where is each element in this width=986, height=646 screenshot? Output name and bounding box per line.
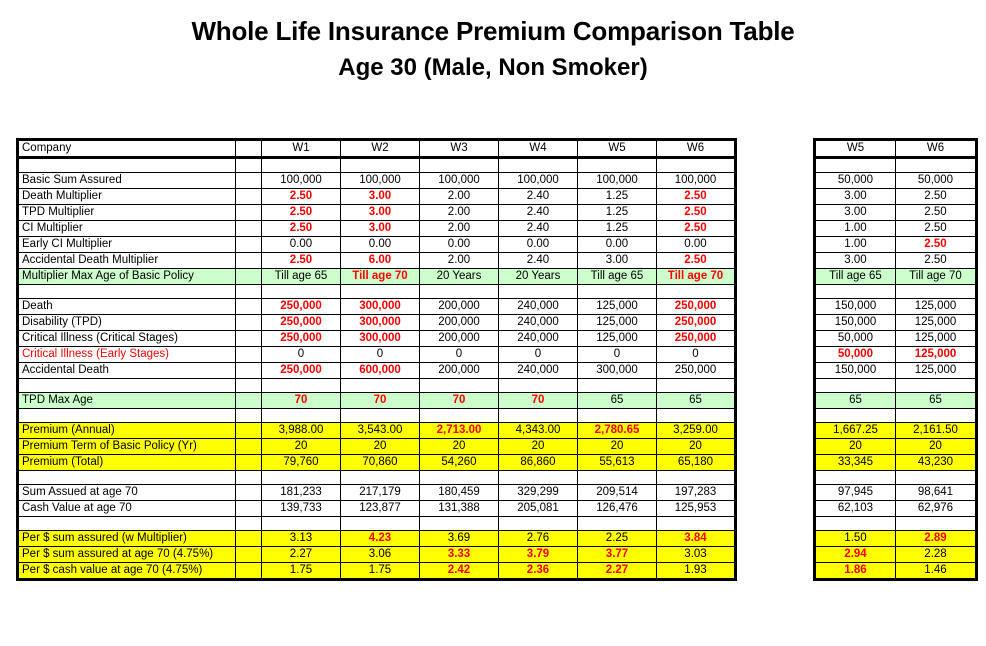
row-label: Critical Illness (Early Stages)	[18, 347, 236, 363]
spacer-cell	[236, 501, 262, 517]
table-row: 50,00050,000	[815, 173, 977, 189]
spacer-cell	[578, 409, 657, 423]
data-cell: 0	[499, 347, 578, 363]
spacer-cell	[896, 409, 977, 423]
data-cell: 0	[262, 347, 341, 363]
row-label: Accidental Death Multiplier	[18, 253, 236, 269]
data-cell: 2.50	[262, 221, 341, 237]
row-label: Death Multiplier	[18, 189, 236, 205]
table-spacer-row	[815, 285, 977, 299]
table-row: 97,94598,641	[815, 485, 977, 501]
data-cell: 200,000	[420, 299, 499, 315]
data-cell: 1.93	[657, 563, 736, 580]
spacer-cell	[420, 517, 499, 531]
table-row: Per $ sum assured (w Multiplier) 3.134.2…	[18, 531, 736, 547]
spacer-cell	[236, 285, 262, 299]
table-row: TPD Max Age 707070706565	[18, 393, 736, 409]
data-cell: 0	[420, 347, 499, 363]
table-spacer-row	[18, 285, 736, 299]
data-cell: 33,345	[815, 455, 896, 471]
data-cell: 125,000	[578, 331, 657, 347]
data-cell: 3.03	[657, 547, 736, 563]
data-cell: 0	[578, 347, 657, 363]
data-cell: 300,000	[578, 363, 657, 379]
table-spacer-row	[815, 158, 977, 173]
data-cell: 0.00	[420, 237, 499, 253]
column-header-w5-small: W5	[815, 140, 896, 158]
table-row: 1.002.50	[815, 237, 977, 253]
spacer-cell	[499, 285, 578, 299]
data-cell: 3.00	[341, 221, 420, 237]
data-cell: 2,713.00	[420, 423, 499, 439]
data-cell: 300,000	[341, 315, 420, 331]
data-cell: 2.50	[896, 189, 977, 205]
data-cell: 65	[815, 393, 896, 409]
data-cell: 200,000	[420, 363, 499, 379]
data-cell: 2.50	[262, 205, 341, 221]
data-cell: 125,000	[896, 299, 977, 315]
data-cell: 2.50	[657, 221, 736, 237]
table-row: Premium (Annual) 3,988.003,543.002,713.0…	[18, 423, 736, 439]
table-row: 33,34543,230	[815, 455, 977, 471]
row-label: Per $ sum assured (w Multiplier)	[18, 531, 236, 547]
spacer-cell	[18, 379, 236, 393]
spacer-cell	[420, 285, 499, 299]
data-cell: 240,000	[499, 331, 578, 347]
data-cell: 1.00	[815, 221, 896, 237]
spacer-cell	[499, 409, 578, 423]
data-cell: 50,000	[815, 173, 896, 189]
data-cell: 250,000	[657, 299, 736, 315]
data-cell: 3.13	[262, 531, 341, 547]
spacer-cell	[499, 379, 578, 393]
spacer-cell	[815, 471, 896, 485]
data-cell: 125,000	[578, 299, 657, 315]
row-label: CI Multiplier	[18, 221, 236, 237]
data-cell: 2.50	[896, 221, 977, 237]
data-cell: 250,000	[262, 315, 341, 331]
spacer-cell	[657, 517, 736, 531]
table-row: Per $ sum assured at age 70 (4.75%) 2.27…	[18, 547, 736, 563]
data-cell: 1.00	[815, 237, 896, 253]
table-row: 1.861.46	[815, 563, 977, 580]
data-cell: 150,000	[815, 315, 896, 331]
spacer-cell	[657, 409, 736, 423]
data-cell: 2.76	[499, 531, 578, 547]
data-cell: 3.00	[815, 205, 896, 221]
data-cell: 2.50	[896, 205, 977, 221]
data-cell: 2.50	[896, 253, 977, 269]
data-cell: 3,988.00	[262, 423, 341, 439]
data-cell: 200,000	[420, 331, 499, 347]
data-cell: 1,667.25	[815, 423, 896, 439]
table-row: Multiplier Max Age of Basic Policy Till …	[18, 269, 736, 285]
data-cell: 209,514	[578, 485, 657, 501]
spacer-cell	[341, 379, 420, 393]
spacer-cell	[262, 158, 341, 173]
table-row: 3.002.50	[815, 189, 977, 205]
data-cell: 600,000	[341, 363, 420, 379]
table-spacer-row	[18, 409, 736, 423]
table-row: Basic Sum Assured 100,000100,000100,0001…	[18, 173, 736, 189]
data-cell: 2.40	[499, 221, 578, 237]
data-cell: 125,000	[896, 315, 977, 331]
spacer-cell	[499, 158, 578, 173]
data-cell: Till age 70	[657, 269, 736, 285]
data-cell: 3.79	[499, 547, 578, 563]
table-row: 150,000125,000	[815, 299, 977, 315]
table-row: 3.002.50	[815, 253, 977, 269]
column-header-w6: W6	[657, 140, 736, 158]
data-cell: 2.27	[578, 563, 657, 580]
page-title: Whole Life Insurance Premium Comparison …	[0, 14, 986, 49]
data-cell: 55,613	[578, 455, 657, 471]
spacer-cell	[236, 409, 262, 423]
row-label: Multiplier Max Age of Basic Policy	[18, 269, 236, 285]
table-spacer-row	[18, 158, 736, 173]
data-cell: 240,000	[499, 299, 578, 315]
column-header-w4: W4	[499, 140, 578, 158]
table-row: Critical Illness (Early Stages) 000000	[18, 347, 736, 363]
data-cell: 2.28	[896, 547, 977, 563]
table-row: 1,667.252,161.50	[815, 423, 977, 439]
spacer-cell	[18, 158, 236, 173]
row-label: TPD Multiplier	[18, 205, 236, 221]
spacer-cell	[341, 158, 420, 173]
data-cell: 180,459	[420, 485, 499, 501]
data-cell: 2.50	[657, 253, 736, 269]
spacer-cell	[578, 285, 657, 299]
data-cell: 43,230	[896, 455, 977, 471]
spacer-cell	[262, 471, 341, 485]
spacer-cell	[657, 158, 736, 173]
table-row: 1.002.50	[815, 221, 977, 237]
table-spacer-row	[18, 517, 736, 531]
table-spacer-row	[815, 409, 977, 423]
data-cell: 65	[896, 393, 977, 409]
data-cell: 70,860	[341, 455, 420, 471]
row-label: Accidental Death	[18, 363, 236, 379]
data-cell: 62,103	[815, 501, 896, 517]
data-cell: 2.00	[420, 253, 499, 269]
data-cell: 20 Years	[499, 269, 578, 285]
column-header-w6-small: W6	[896, 140, 977, 158]
left-comparison-table: Company W1W2W3W4W5W6 Basic Sum Assured 1…	[16, 138, 737, 581]
data-cell: Till age 65	[262, 269, 341, 285]
data-cell: 2.50	[657, 205, 736, 221]
data-cell: 20	[420, 439, 499, 455]
table-row: Premium (Total) 79,76070,86054,26086,860…	[18, 455, 736, 471]
data-cell: 0.00	[499, 237, 578, 253]
spacer-cell	[236, 158, 262, 173]
data-cell: 150,000	[815, 363, 896, 379]
data-cell: 2.40	[499, 205, 578, 221]
spacer-cell	[420, 158, 499, 173]
data-cell: 3.00	[815, 253, 896, 269]
row-label: Per $ sum assured at age 70 (4.75%)	[18, 547, 236, 563]
data-cell: 240,000	[499, 363, 578, 379]
table-row: 50,000125,000	[815, 331, 977, 347]
data-cell: 300,000	[341, 299, 420, 315]
spacer-cell	[236, 299, 262, 315]
data-cell: 1.25	[578, 221, 657, 237]
data-cell: 3.33	[420, 547, 499, 563]
data-cell: 3.06	[341, 547, 420, 563]
spacer-cell	[236, 173, 262, 189]
spacer-cell	[420, 409, 499, 423]
spacer-cell	[236, 331, 262, 347]
spacer-cell	[896, 158, 977, 173]
data-cell: 0.00	[262, 237, 341, 253]
data-cell: 2,780.65	[578, 423, 657, 439]
data-cell: 70	[341, 393, 420, 409]
data-cell: 2.94	[815, 547, 896, 563]
spacer-cell	[896, 379, 977, 393]
data-cell: 2.40	[499, 253, 578, 269]
data-cell: 50,000	[815, 331, 896, 347]
table-row: Death Multiplier 2.503.002.002.401.252.5…	[18, 189, 736, 205]
data-cell: 70	[420, 393, 499, 409]
data-cell: 100,000	[499, 173, 578, 189]
data-cell: Till age 70	[341, 269, 420, 285]
table-row: Till age 65Till age 70	[815, 269, 977, 285]
data-cell: 6.00	[341, 253, 420, 269]
data-cell: 2.00	[420, 221, 499, 237]
data-cell: 2.42	[420, 563, 499, 580]
spacer-cell	[341, 471, 420, 485]
spacer-cell	[236, 423, 262, 439]
data-cell: 0.00	[657, 237, 736, 253]
data-cell: 131,388	[420, 501, 499, 517]
table-spacer-row	[18, 379, 736, 393]
spacer-cell	[236, 363, 262, 379]
spacer-cell	[236, 563, 262, 580]
data-cell: 2.40	[499, 189, 578, 205]
data-cell: 100,000	[341, 173, 420, 189]
data-cell: 20	[815, 439, 896, 455]
data-cell: 50,000	[896, 173, 977, 189]
spacer-cell	[18, 285, 236, 299]
right-comparison-table: W5W6 50,00050,0003.002.503.002.501.002.5…	[813, 138, 978, 581]
data-cell: 2.50	[657, 189, 736, 205]
row-label: Critical Illness (Critical Stages)	[18, 331, 236, 347]
spacer-cell	[236, 253, 262, 269]
data-cell: 100,000	[420, 173, 499, 189]
row-label: TPD Max Age	[18, 393, 236, 409]
row-label: Basic Sum Assured	[18, 173, 236, 189]
data-cell: 65,180	[657, 455, 736, 471]
data-cell: 3,259.00	[657, 423, 736, 439]
spacer-cell	[236, 237, 262, 253]
spacer-cell	[236, 205, 262, 221]
data-cell: 250,000	[657, 315, 736, 331]
data-cell: 20	[578, 439, 657, 455]
table-header-row: W5W6	[815, 140, 977, 158]
spacer-cell	[262, 409, 341, 423]
spacer-cell	[341, 409, 420, 423]
table-spacer-row	[815, 471, 977, 485]
table-row: 2.942.28	[815, 547, 977, 563]
spacer-cell	[499, 517, 578, 531]
data-cell: 250,000	[262, 363, 341, 379]
data-cell: 20 Years	[420, 269, 499, 285]
page-subtitle: Age 30 (Male, Non Smoker)	[0, 49, 986, 87]
table-row: 150,000125,000	[815, 315, 977, 331]
spacer-cell	[341, 517, 420, 531]
data-cell: 2.27	[262, 547, 341, 563]
data-cell: 3.84	[657, 531, 736, 547]
spacer-cell	[18, 517, 236, 531]
table-header-row: Company W1W2W3W4W5W6	[18, 140, 736, 158]
table-row: 6565	[815, 393, 977, 409]
table-row: TPD Multiplier 2.503.002.002.401.252.50	[18, 205, 736, 221]
spacer-cell	[236, 517, 262, 531]
spacer-cell	[815, 158, 896, 173]
data-cell: 20	[657, 439, 736, 455]
table-gap	[737, 138, 813, 139]
data-cell: 62,976	[896, 501, 977, 517]
spacer-cell	[896, 517, 977, 531]
spacer-cell	[236, 531, 262, 547]
data-cell: 1.86	[815, 563, 896, 580]
spacer-cell	[341, 285, 420, 299]
data-cell: 1.25	[578, 189, 657, 205]
table-row: Accidental Death Multiplier 2.506.002.00…	[18, 253, 736, 269]
data-cell: 2.36	[499, 563, 578, 580]
data-cell: 1.75	[262, 563, 341, 580]
spacer-cell	[236, 269, 262, 285]
table-row: Accidental Death 250,000600,000200,00024…	[18, 363, 736, 379]
data-cell: 20	[896, 439, 977, 455]
spacer-cell	[578, 517, 657, 531]
row-label: Sum Assued at age 70	[18, 485, 236, 501]
column-header-w3: W3	[420, 140, 499, 158]
data-cell: 2.89	[896, 531, 977, 547]
data-cell: 300,000	[341, 331, 420, 347]
spacer-cell	[420, 379, 499, 393]
data-cell: 50,000	[815, 347, 896, 363]
data-cell: 250,000	[657, 363, 736, 379]
data-cell: 123,877	[341, 501, 420, 517]
table-row: 2020	[815, 439, 977, 455]
table-row: Death 250,000300,000200,000240,000125,00…	[18, 299, 736, 315]
data-cell: 2.50	[896, 237, 977, 253]
data-cell: 70	[262, 393, 341, 409]
spacer-cell	[657, 285, 736, 299]
spacer-cell	[262, 285, 341, 299]
row-label: Early CI Multiplier	[18, 237, 236, 253]
spacer-cell	[262, 517, 341, 531]
data-cell: 3.77	[578, 547, 657, 563]
data-cell: 70	[499, 393, 578, 409]
data-cell: 1.25	[578, 205, 657, 221]
spacer-cell	[236, 221, 262, 237]
spacer-cell	[236, 347, 262, 363]
table-row: Disability (TPD) 250,000300,000200,00024…	[18, 315, 736, 331]
spacer-cell	[815, 379, 896, 393]
data-cell: Till age 65	[578, 269, 657, 285]
data-cell: 250,000	[262, 299, 341, 315]
table-row: Critical Illness (Critical Stages) 250,0…	[18, 331, 736, 347]
data-cell: 100,000	[262, 173, 341, 189]
column-header-w5: W5	[578, 140, 657, 158]
spacer-cell	[236, 140, 262, 158]
data-cell: 240,000	[499, 315, 578, 331]
table-row: 62,10362,976	[815, 501, 977, 517]
row-label: Premium Term of Basic Policy (Yr)	[18, 439, 236, 455]
data-cell: 2.00	[420, 205, 499, 221]
spacer-cell	[236, 439, 262, 455]
data-cell: 3,543.00	[341, 423, 420, 439]
data-cell: 2.25	[578, 531, 657, 547]
row-label: Cash Value at age 70	[18, 501, 236, 517]
table-row: Cash Value at age 70 139,733123,877131,3…	[18, 501, 736, 517]
table-row: Early CI Multiplier 0.000.000.000.000.00…	[18, 237, 736, 253]
data-cell: 125,000	[896, 363, 977, 379]
data-cell: 200,000	[420, 315, 499, 331]
column-header-w1: W1	[262, 140, 341, 158]
spacer-cell	[236, 471, 262, 485]
spacer-cell	[578, 158, 657, 173]
data-cell: 3.00	[341, 205, 420, 221]
data-cell: 100,000	[578, 173, 657, 189]
spacer-cell	[499, 471, 578, 485]
data-cell: Till age 70	[896, 269, 977, 285]
data-cell: 126,476	[578, 501, 657, 517]
row-label: Premium (Annual)	[18, 423, 236, 439]
spacer-cell	[236, 379, 262, 393]
data-cell: 65	[578, 393, 657, 409]
data-cell: 0.00	[578, 237, 657, 253]
data-cell: 205,081	[499, 501, 578, 517]
data-cell: 217,179	[341, 485, 420, 501]
data-cell: 2.00	[420, 189, 499, 205]
table-row: Sum Assued at age 70 181,233217,179180,4…	[18, 485, 736, 501]
table-row: 1.502.89	[815, 531, 977, 547]
data-cell: 65	[657, 393, 736, 409]
spacer-cell	[578, 471, 657, 485]
data-cell: 79,760	[262, 455, 341, 471]
column-header-company: Company	[18, 140, 236, 158]
spacer-cell	[18, 409, 236, 423]
row-label: Death	[18, 299, 236, 315]
data-cell: 0.00	[341, 237, 420, 253]
data-cell: 329,299	[499, 485, 578, 501]
table-spacer-row	[815, 379, 977, 393]
spacer-cell	[236, 393, 262, 409]
table-spacer-row	[18, 471, 736, 485]
spacer-cell	[236, 189, 262, 205]
spacer-cell	[262, 379, 341, 393]
data-cell: 197,283	[657, 485, 736, 501]
data-cell: Till age 65	[815, 269, 896, 285]
data-cell: 4,343.00	[499, 423, 578, 439]
data-cell: 2.50	[262, 189, 341, 205]
table-row: 50,000125,000	[815, 347, 977, 363]
comparison-tables: Company W1W2W3W4W5W6 Basic Sum Assured 1…	[16, 138, 978, 581]
data-cell: 2.50	[262, 253, 341, 269]
data-cell: 125,953	[657, 501, 736, 517]
data-cell: 3.00	[815, 189, 896, 205]
spacer-cell	[578, 379, 657, 393]
data-cell: 97,945	[815, 485, 896, 501]
row-label: Premium (Total)	[18, 455, 236, 471]
data-cell: 250,000	[657, 331, 736, 347]
data-cell: 20	[262, 439, 341, 455]
spacer-cell	[815, 409, 896, 423]
data-cell: 125,000	[896, 331, 977, 347]
data-cell: 20	[341, 439, 420, 455]
